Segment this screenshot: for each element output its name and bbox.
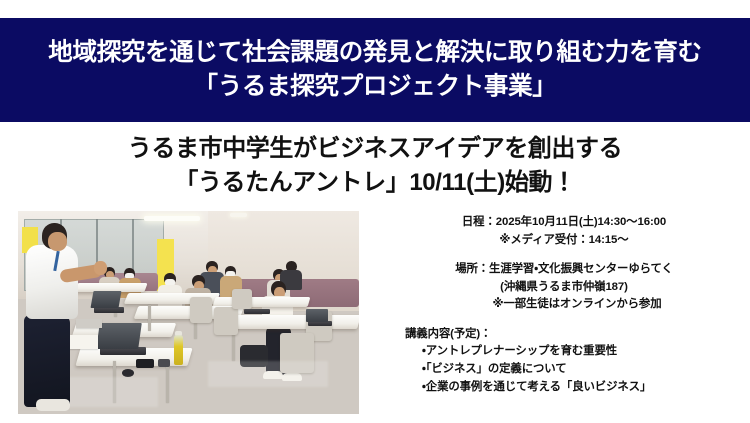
curriculum-heading: 講義内容(予定)： [388, 326, 740, 344]
subheadline: うるま市中学生がビジネスアイデアを創出する 「うるたんアントレ」10/11(土)… [0, 132, 750, 201]
subheadline-line-1: うるま市中学生がビジネスアイデアを創出する [0, 132, 750, 166]
floor-reflection [208, 361, 328, 387]
curriculum-item: ・アントレプレナーシップを育む重要性 [388, 343, 740, 361]
schedule-note: ※メディア受付：14:15〜 [388, 232, 740, 250]
venue-address: (沖縄県うるま市仲嶺187) [388, 279, 740, 297]
chair [232, 289, 252, 309]
venue-note: ※一部生徒はオンラインから参加 [388, 296, 740, 314]
banner-line-1: 地域探究を通じて社会課題の発見と解決に取り組む力を育む [48, 36, 701, 70]
laptop-screen [96, 323, 142, 349]
laptop [244, 309, 270, 314]
ceiling-light-icon [230, 213, 247, 217]
chair [214, 307, 238, 335]
laptop-screen [306, 309, 328, 322]
ceiling-light-icon [144, 216, 200, 221]
curriculum-item: ・「ビジネス」の定義について [388, 361, 740, 379]
curriculum-item: ・企業の事例を通じて考える「良いビジネス」 [388, 379, 740, 397]
papers [66, 335, 98, 349]
event-details: 日程：2025年10月11日(土)14:30〜16:00 ※メディア受付：14:… [388, 214, 740, 396]
remote [158, 359, 170, 367]
speaker-hand [94, 261, 107, 275]
smartphone [136, 359, 154, 368]
subheadline-line-2: 「うるたんアントレ」10/11(土)始動！ [0, 166, 750, 200]
mouse [122, 369, 134, 377]
speaker-face [48, 232, 67, 251]
curriculum-group: 講義内容(予定)： ・アントレプレナーシップを育む重要性 ・「ビジネス」の定義に… [388, 326, 740, 396]
photo-scene [18, 211, 359, 414]
table [222, 315, 359, 329]
schedule-line: 日程：2025年10月11日(土)14:30〜16:00 [388, 214, 740, 232]
table-leg [166, 363, 169, 403]
speaker-shirt [26, 245, 78, 319]
banner-line-2: 「うるま探究プロジェクト事業」 [194, 70, 557, 104]
chair [190, 297, 212, 323]
laptop-screen [91, 291, 122, 308]
papers [76, 319, 102, 328]
drink-bottle [174, 335, 183, 365]
classroom-photo [18, 211, 359, 414]
venue-group: 場所：生涯学習・文化振興センターゆらてく (沖縄県うるま市仲嶺187) ※一部生… [388, 261, 740, 314]
speaker-shoe [36, 399, 70, 411]
headline-banner: 地域探究を通じて社会課題の発見と解決に取り組む力を育む 「うるま探究プロジェクト… [0, 18, 750, 122]
venue-line: 場所：生涯学習・文化振興センターゆらてく [388, 261, 740, 279]
table-leg [148, 305, 151, 331]
speaker-legs [24, 315, 70, 407]
schedule-group: 日程：2025年10月11日(土)14:30〜16:00 ※メディア受付：14:… [388, 214, 740, 249]
